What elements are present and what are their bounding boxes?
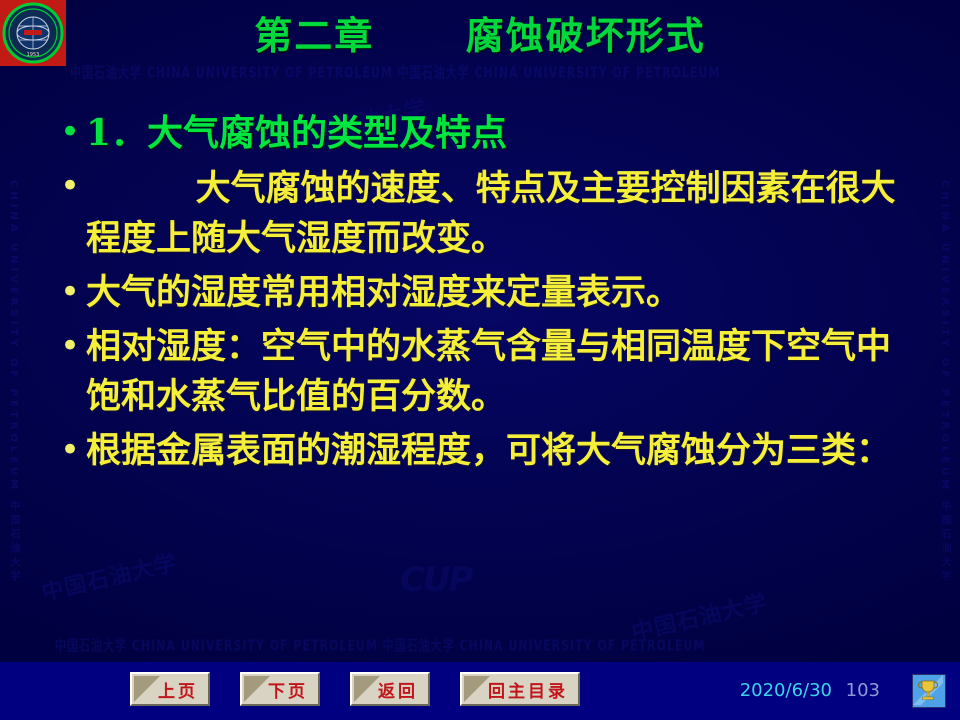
trophy-icon xyxy=(912,674,946,708)
footer-bar: 上页 下页 返回 回主目录 2020/6/30 103 xyxy=(0,660,960,720)
bullet-text: 大气的湿度常用相对湿度来定量表示。 xyxy=(86,268,924,318)
prev-page-button[interactable]: 上页 xyxy=(130,672,210,706)
bullet-marker-icon: • xyxy=(52,108,86,156)
navigation-buttons: 上页 下页 返回 回主目录 xyxy=(130,672,580,706)
main-menu-button[interactable]: 回主目录 xyxy=(460,672,580,706)
trophy-glyph xyxy=(913,675,943,705)
slide-content: • 1．大气腐蚀的类型及特点 • 大气腐蚀的速度、特点及主要控制因素在很大程度上… xyxy=(52,108,924,480)
university-logo: 1953 xyxy=(0,0,66,66)
return-label: 返回 xyxy=(378,677,418,702)
watermark-band-top: 中国石油大学 CHINA UNIVERSITY OF PETROLEUM 中国石… xyxy=(70,61,720,83)
watermark-left-strip: CHINA UNIVERSITY OF PETROLEUM 中国石油大学 xyxy=(6,180,21,585)
list-item: • 相对湿度：空气中的水蒸气含量与相同温度下空气中饱和水蒸气比值的百分数。 xyxy=(52,322,924,422)
button-corner-decoration xyxy=(134,676,160,702)
bullet-text: 根据金属表面的潮湿程度，可将大气腐蚀分为三类： xyxy=(86,426,924,476)
list-item: • 1．大气腐蚀的类型及特点 xyxy=(52,108,924,158)
button-corner-decoration xyxy=(464,676,490,702)
list-item: • 大气的湿度常用相对湿度来定量表示。 xyxy=(52,268,924,318)
next-page-button[interactable]: 下页 xyxy=(240,672,320,706)
watermark-diagonal-right: 中国石油大学 xyxy=(628,585,770,647)
prev-page-label: 上页 xyxy=(158,677,198,702)
watermark-diagonal-left: 中国石油大学 xyxy=(38,545,180,607)
bullet-marker-icon: • xyxy=(52,268,86,316)
list-item: • 大气腐蚀的速度、特点及主要控制因素在很大程度上随大气湿度而改变。 xyxy=(52,162,924,264)
return-button[interactable]: 返回 xyxy=(350,672,430,706)
presentation-slide: 中国石油大学 CHINA UNIVERSITY OF PETROLEUM 中国石… xyxy=(0,0,960,720)
watermark-right-strip: CHINA UNIVERSITY OF PETROLEUM 中国石油大学 xyxy=(937,180,952,585)
watermark-cup-logo: CUP xyxy=(400,560,471,600)
next-page-label: 下页 xyxy=(268,677,308,702)
footer-page-number: 103 xyxy=(846,680,880,701)
button-corner-decoration xyxy=(244,676,270,702)
bullet-marker-icon: • xyxy=(52,322,86,370)
page-title: 第二章 腐蚀破坏形式 xyxy=(0,5,960,60)
bullet-text: 1．大气腐蚀的类型及特点 xyxy=(86,108,924,158)
bullet-marker-icon: • xyxy=(52,426,86,474)
main-menu-label: 回主目录 xyxy=(488,677,568,702)
watermark-band-bottom: 中国石油大学 CHINA UNIVERSITY OF PETROLEUM 中国石… xyxy=(55,634,705,656)
bullet-text: 大气腐蚀的速度、特点及主要控制因素在很大程度上随大气湿度而改变。 xyxy=(86,164,924,264)
footer-date: 2020/6/30 xyxy=(740,680,832,701)
university-seal-icon: 1953 xyxy=(2,2,64,64)
svg-text:1953: 1953 xyxy=(27,52,40,58)
list-item: • 根据金属表面的潮湿程度，可将大气腐蚀分为三类： xyxy=(52,426,924,476)
bullet-marker-icon: • xyxy=(52,162,86,210)
bullet-text: 相对湿度：空气中的水蒸气含量与相同温度下空气中饱和水蒸气比值的百分数。 xyxy=(86,322,924,422)
button-corner-decoration xyxy=(354,676,380,702)
